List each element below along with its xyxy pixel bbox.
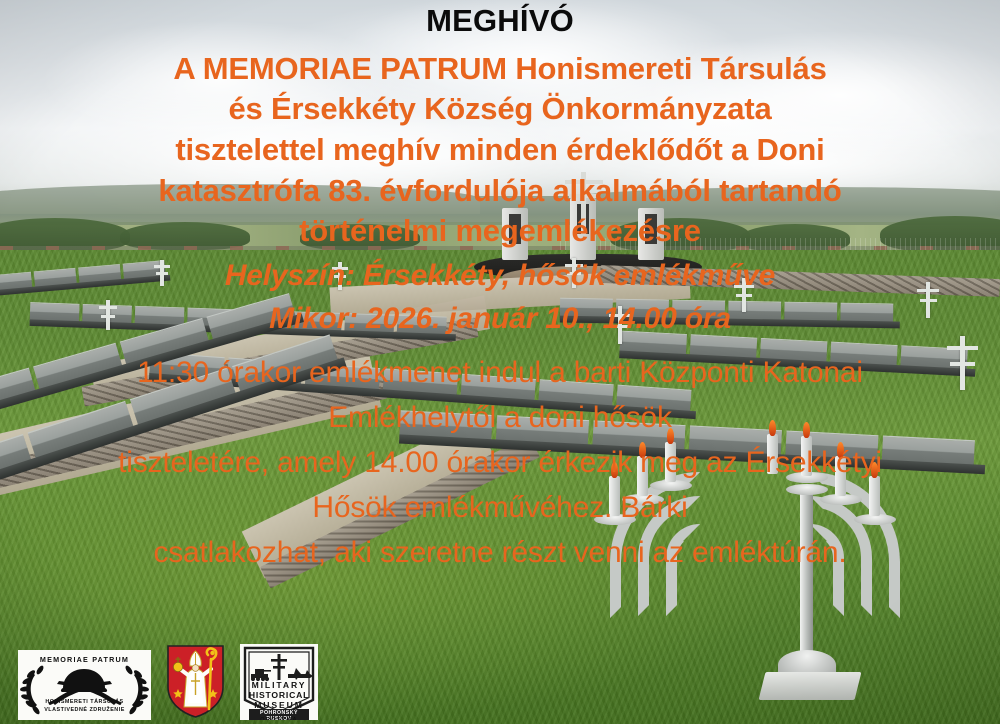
headline-line-5: történelmi megemlékezésre — [158, 211, 841, 252]
memoriae-patrum-subtitle-hu: HONISMERETI TÁRSULÁS — [18, 699, 151, 705]
poster-text-overlay: MEGHÍVÓ A MEMORIAE PATRUM Honismereti Tá… — [0, 0, 1000, 724]
headline-line-2: és Érsekkéty Község Önkormányzata — [158, 89, 841, 130]
event-location: Helyszín: Érsekkéty, hősök emlékműve — [225, 255, 775, 298]
logo-ersekkety-coat-of-arms — [165, 643, 226, 720]
page-title: MEGHÍVÓ — [426, 4, 574, 39]
coat-of-arms-emblem — [165, 643, 226, 720]
headline-line-1: A MEMORIAE PATRUM Honismereti Társulás — [158, 49, 841, 90]
memoriae-patrum-top-text: MEMORIAE PATRUM — [18, 655, 151, 664]
event-datetime: Mikor: 2026. január 10., 14.00 óra — [225, 298, 775, 341]
headline-line-3: tisztelettel meghív minden érdeklődőt a … — [158, 130, 841, 171]
museum-line-1: MILITARY — [240, 680, 318, 690]
description-line-3: tiszteletére, amely 14.00 órakor érkezik… — [118, 440, 882, 485]
description-line-4: Hősök emlékművéhez. Bárki — [118, 485, 882, 530]
event-details-block: Helyszín: Érsekkéty, hősök emlékműve Mik… — [225, 255, 775, 341]
description-line-2: Emlékhelytől a doni hősök — [118, 395, 882, 440]
organiser-logos: MEMORIAE PATRUM HONISMERETI TÁRSULÁS VLA… — [18, 643, 318, 720]
memoriae-patrum-subtitle-sk: VLASTIVEDNÉ ZDRUŽENIE — [18, 707, 151, 713]
headline-block: A MEMORIAE PATRUM Honismereti Társulás é… — [158, 49, 841, 252]
logo-memoriae-patrum: MEMORIAE PATRUM HONISMERETI TÁRSULÁS VLA… — [18, 650, 151, 720]
description-line-5: csatlakozhat, aki szeretne részt venni a… — [118, 530, 882, 575]
museum-line-2: HISTORICAL — [240, 690, 318, 700]
event-description-block: 11:30 órakor emlékmenet indul a barti Kö… — [118, 350, 882, 575]
logo-military-historical-museum: MILITARY HISTORICAL MUSEUM POHRONSKÝ RUS… — [240, 644, 318, 720]
description-line-1: 11:30 órakor emlékmenet indul a barti Kö… — [118, 350, 882, 395]
museum-line-5: OROSZKA — [240, 717, 318, 720]
headline-line-4: katasztrófa 83. évfordulója alkalmából t… — [158, 171, 841, 212]
invitation-poster: MEGHÍVÓ A MEMORIAE PATRUM Honismereti Tá… — [0, 0, 1000, 724]
